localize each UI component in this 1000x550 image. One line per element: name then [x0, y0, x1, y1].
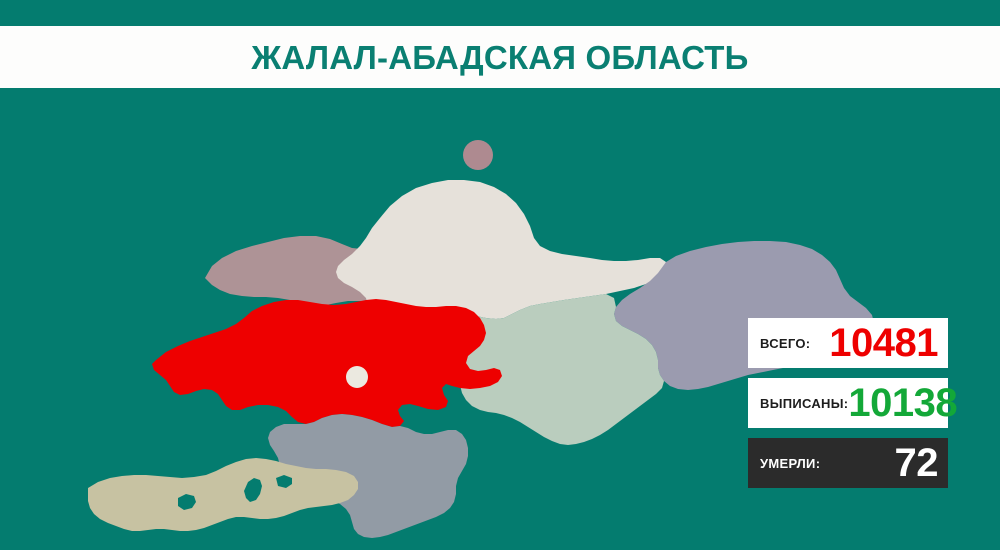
title-banner: ЖАЛАЛ-АБАДСКАЯ ОБЛАСТЬ	[0, 26, 1000, 88]
stat-value-recovered: 10138	[848, 383, 957, 423]
stat-label-total: ВСЕГО:	[760, 337, 810, 350]
city-marker-osh[interactable]	[346, 366, 368, 388]
infographic-canvas: ЖАЛАЛ-АБАДСКАЯ ОБЛАСТЬ	[0, 0, 1000, 550]
stat-row-total: ВСЕГО: 10481	[748, 318, 948, 368]
top-accent-band	[0, 0, 1000, 26]
map-region-jalalabad[interactable]	[152, 299, 502, 427]
stat-row-recovered: ВЫПИСАНЫ: 10138	[748, 378, 948, 428]
stat-value-total: 10481	[829, 323, 938, 363]
city-marker-bishkek[interactable]	[463, 140, 493, 170]
stat-label-deaths: УМЕРЛИ:	[760, 457, 820, 470]
stat-label-recovered: ВЫПИСАНЫ:	[760, 397, 848, 410]
map-area: ВСЕГО: 10481 ВЫПИСАНЫ: 10138 УМЕРЛИ: 72	[0, 88, 1000, 550]
stat-value-deaths: 72	[895, 443, 939, 483]
statistics-panel: ВСЕГО: 10481 ВЫПИСАНЫ: 10138 УМЕРЛИ: 72	[748, 318, 948, 498]
page-title: ЖАЛАЛ-АБАДСКАЯ ОБЛАСТЬ	[251, 41, 748, 74]
stat-row-deaths: УМЕРЛИ: 72	[748, 438, 948, 488]
